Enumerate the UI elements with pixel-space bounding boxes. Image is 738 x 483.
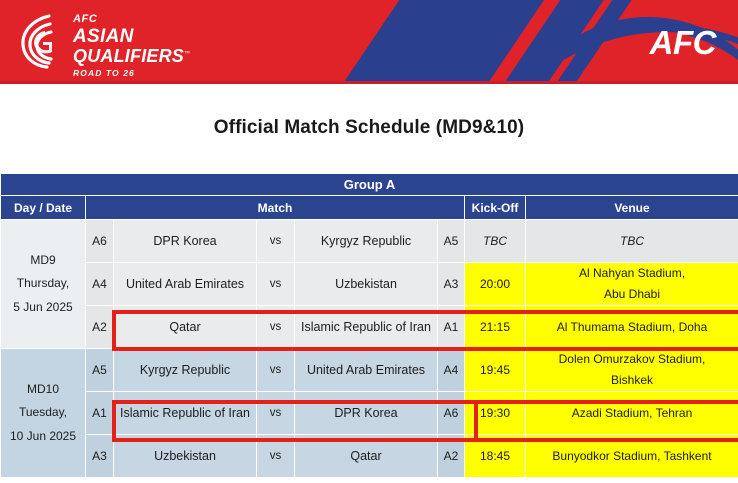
vs-separator: vs bbox=[257, 349, 295, 392]
venue-line-2: Abu Dhabi bbox=[526, 284, 738, 305]
away-team-code: A6 bbox=[438, 392, 465, 435]
table-row: A4United Arab EmiratesvsUzbekistanA320:0… bbox=[1, 263, 738, 306]
venue-cell: Bunyodkor Stadium, Tashkent bbox=[526, 435, 738, 478]
logo-qualifiers-word: QUALIFIERS bbox=[73, 46, 184, 66]
col-header-kick-off: Kick-Off bbox=[465, 196, 526, 220]
match-schedule-table: Group A Day / Date Match Kick-Off Venue … bbox=[0, 173, 738, 478]
matchday-label-cell: MD9Thursday,5 Jun 2025 bbox=[1, 220, 86, 349]
vs-separator: vs bbox=[257, 435, 295, 478]
venue-cell: Dolen Omurzakov Stadium,Bishkek bbox=[526, 349, 738, 392]
kick-off-time: 18:45 bbox=[465, 435, 526, 478]
vs-separator: vs bbox=[257, 263, 295, 306]
kick-off-time: TBC bbox=[465, 220, 526, 263]
home-team-code: A5 bbox=[86, 349, 114, 392]
home-team-code: A2 bbox=[86, 306, 114, 349]
banner-bottom-edge bbox=[0, 81, 738, 84]
qualifiers-emblem-icon bbox=[18, 12, 64, 70]
away-team-name: Uzbekistan bbox=[295, 263, 438, 306]
home-team-code: A1 bbox=[86, 392, 114, 435]
matchday-label-line-3: 5 Jun 2025 bbox=[1, 296, 85, 319]
group-header-cell: Group A bbox=[1, 174, 738, 196]
table-row: MD10Tuesday,10 Jun 2025A5Kyrgyz Republic… bbox=[1, 349, 738, 392]
home-team-code: A3 bbox=[86, 435, 114, 478]
venue-cell: Azadi Stadium, Tehran bbox=[526, 392, 738, 435]
venue-line-1: Azadi Stadium, Tehran bbox=[526, 406, 738, 420]
venue-line-2: Bishkek bbox=[526, 370, 738, 391]
venue-cell: TBC bbox=[526, 220, 738, 263]
kick-off-time: 21:15 bbox=[465, 306, 526, 349]
away-team-name: Qatar bbox=[295, 435, 438, 478]
away-team-name: Kyrgyz Republic bbox=[295, 220, 438, 263]
venue-cell: Al Nahyan Stadium,Abu Dhabi bbox=[526, 263, 738, 306]
kick-off-time: 20:00 bbox=[465, 263, 526, 306]
col-header-venue: Venue bbox=[526, 196, 738, 220]
matchday-label-cell: MD10Tuesday,10 Jun 2025 bbox=[1, 349, 86, 478]
home-team-code: A4 bbox=[86, 263, 114, 306]
schedule-table-container: Group A Day / Date Match Kick-Off Venue … bbox=[0, 173, 738, 478]
away-team-name: Islamic Republic of Iran bbox=[295, 306, 438, 349]
away-team-code: A2 bbox=[438, 435, 465, 478]
away-team-code: A5 bbox=[438, 220, 465, 263]
col-header-match: Match bbox=[86, 196, 465, 220]
matchday-label-line-3: 10 Jun 2025 bbox=[1, 425, 85, 448]
table-row: A3UzbekistanvsQatarA218:45Bunyodkor Stad… bbox=[1, 435, 738, 478]
logo-asian-text: ASIAN bbox=[73, 27, 190, 46]
logo-afc-text: AFC bbox=[73, 14, 190, 25]
away-team-code: A4 bbox=[438, 349, 465, 392]
matchday-label-line-2: Tuesday, bbox=[1, 401, 85, 424]
afc-banner: AFC ASIAN QUALIFIERS™ ROAD TO 26 AFC bbox=[0, 0, 738, 84]
col-header-day-date: Day / Date bbox=[1, 196, 86, 220]
trademark-icon: ™ bbox=[184, 51, 190, 57]
group-header-row: Group A bbox=[1, 174, 738, 196]
home-team-name: DPR Korea bbox=[114, 220, 257, 263]
home-team-name: Kyrgyz Republic bbox=[114, 349, 257, 392]
home-team-name: Qatar bbox=[114, 306, 257, 349]
matchday-label-line-2: Thursday, bbox=[1, 272, 85, 295]
home-team-name: Uzbekistan bbox=[114, 435, 257, 478]
kick-off-time: 19:45 bbox=[465, 349, 526, 392]
asian-qualifiers-logo: AFC ASIAN QUALIFIERS™ ROAD TO 26 bbox=[18, 12, 190, 78]
home-team-name: Islamic Republic of Iran bbox=[114, 392, 257, 435]
table-row: A1Islamic Republic of IranvsDPR KoreaA61… bbox=[1, 392, 738, 435]
logo-qualifiers-text: QUALIFIERS™ bbox=[73, 47, 190, 65]
vs-separator: vs bbox=[257, 220, 295, 263]
table-body: MD9Thursday,5 Jun 2025A6DPR KoreavsKyrgy… bbox=[1, 220, 738, 478]
kick-off-time: 19:30 bbox=[465, 392, 526, 435]
matchday-label-line-1: MD10 bbox=[1, 378, 85, 401]
column-header-row: Day / Date Match Kick-Off Venue bbox=[1, 196, 738, 220]
vs-separator: vs bbox=[257, 392, 295, 435]
home-team-name: United Arab Emirates bbox=[114, 263, 257, 306]
table-row: MD9Thursday,5 Jun 2025A6DPR KoreavsKyrgy… bbox=[1, 220, 738, 263]
matchday-label-line-1: MD9 bbox=[1, 249, 85, 272]
table-row: A2QatarvsIslamic Republic of IranA121:15… bbox=[1, 306, 738, 349]
afc-wordmark: AFC bbox=[650, 26, 716, 59]
venue-line-1: Bunyodkor Stadium, Tashkent bbox=[526, 449, 738, 463]
venue-cell: Al Thumama Stadium, Doha bbox=[526, 306, 738, 349]
away-team-name: United Arab Emirates bbox=[295, 349, 438, 392]
qualifiers-wordmark: AFC ASIAN QUALIFIERS™ ROAD TO 26 bbox=[73, 12, 190, 78]
logo-road-to-26-text: ROAD TO 26 bbox=[73, 69, 190, 78]
away-team-code: A3 bbox=[438, 263, 465, 306]
home-team-code: A6 bbox=[86, 220, 114, 263]
table-head: Group A Day / Date Match Kick-Off Venue bbox=[1, 174, 738, 220]
venue-line-1: Al Nahyan Stadium, bbox=[526, 263, 738, 284]
venue-line-1: Al Thumama Stadium, Doha bbox=[526, 320, 738, 334]
vs-separator: vs bbox=[257, 306, 295, 349]
page-title: Official Match Schedule (MD9&10) bbox=[0, 117, 738, 139]
venue-line-1: Dolen Omurzakov Stadium, bbox=[526, 349, 738, 370]
venue-line-1: TBC bbox=[526, 234, 738, 248]
away-team-name: DPR Korea bbox=[295, 392, 438, 435]
away-team-code: A1 bbox=[438, 306, 465, 349]
